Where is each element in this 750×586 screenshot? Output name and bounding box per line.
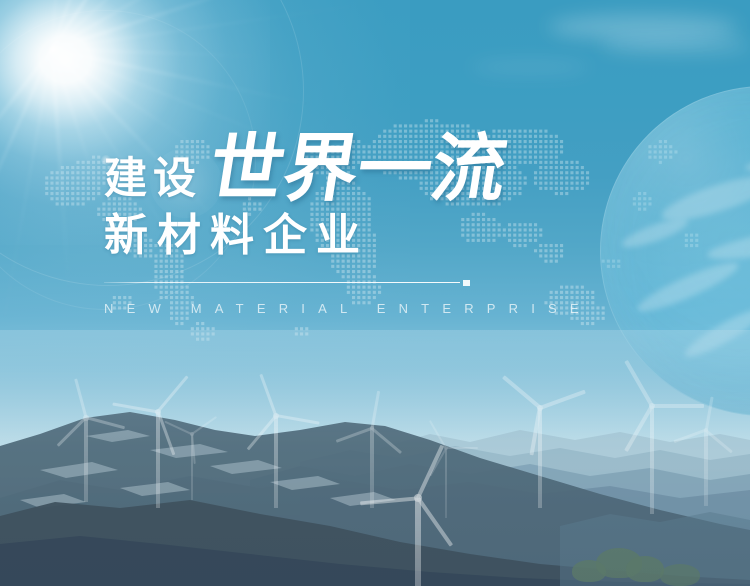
hero-banner: 建设 世界一流 新材料企业 NEW MATERIAL ENTERPRISE: [0, 0, 750, 586]
divider-cap: [463, 280, 470, 286]
headline-subtitle: NEW MATERIAL ENTERPRISE: [104, 302, 664, 315]
headline-divider: [104, 280, 470, 286]
headline-emphasis: 世界一流: [204, 132, 512, 206]
headline-line-1: 建设 世界一流: [104, 128, 664, 206]
divider-bar: [104, 282, 460, 283]
mountain-landscape: [0, 330, 750, 586]
headline-block: 建设 世界一流 新材料企业 NEW MATERIAL ENTERPRISE: [104, 128, 664, 315]
headline-line-2: 新材料企业: [104, 214, 664, 258]
headline-prefix: 建设: [104, 158, 202, 206]
mountain-range: [0, 330, 750, 586]
